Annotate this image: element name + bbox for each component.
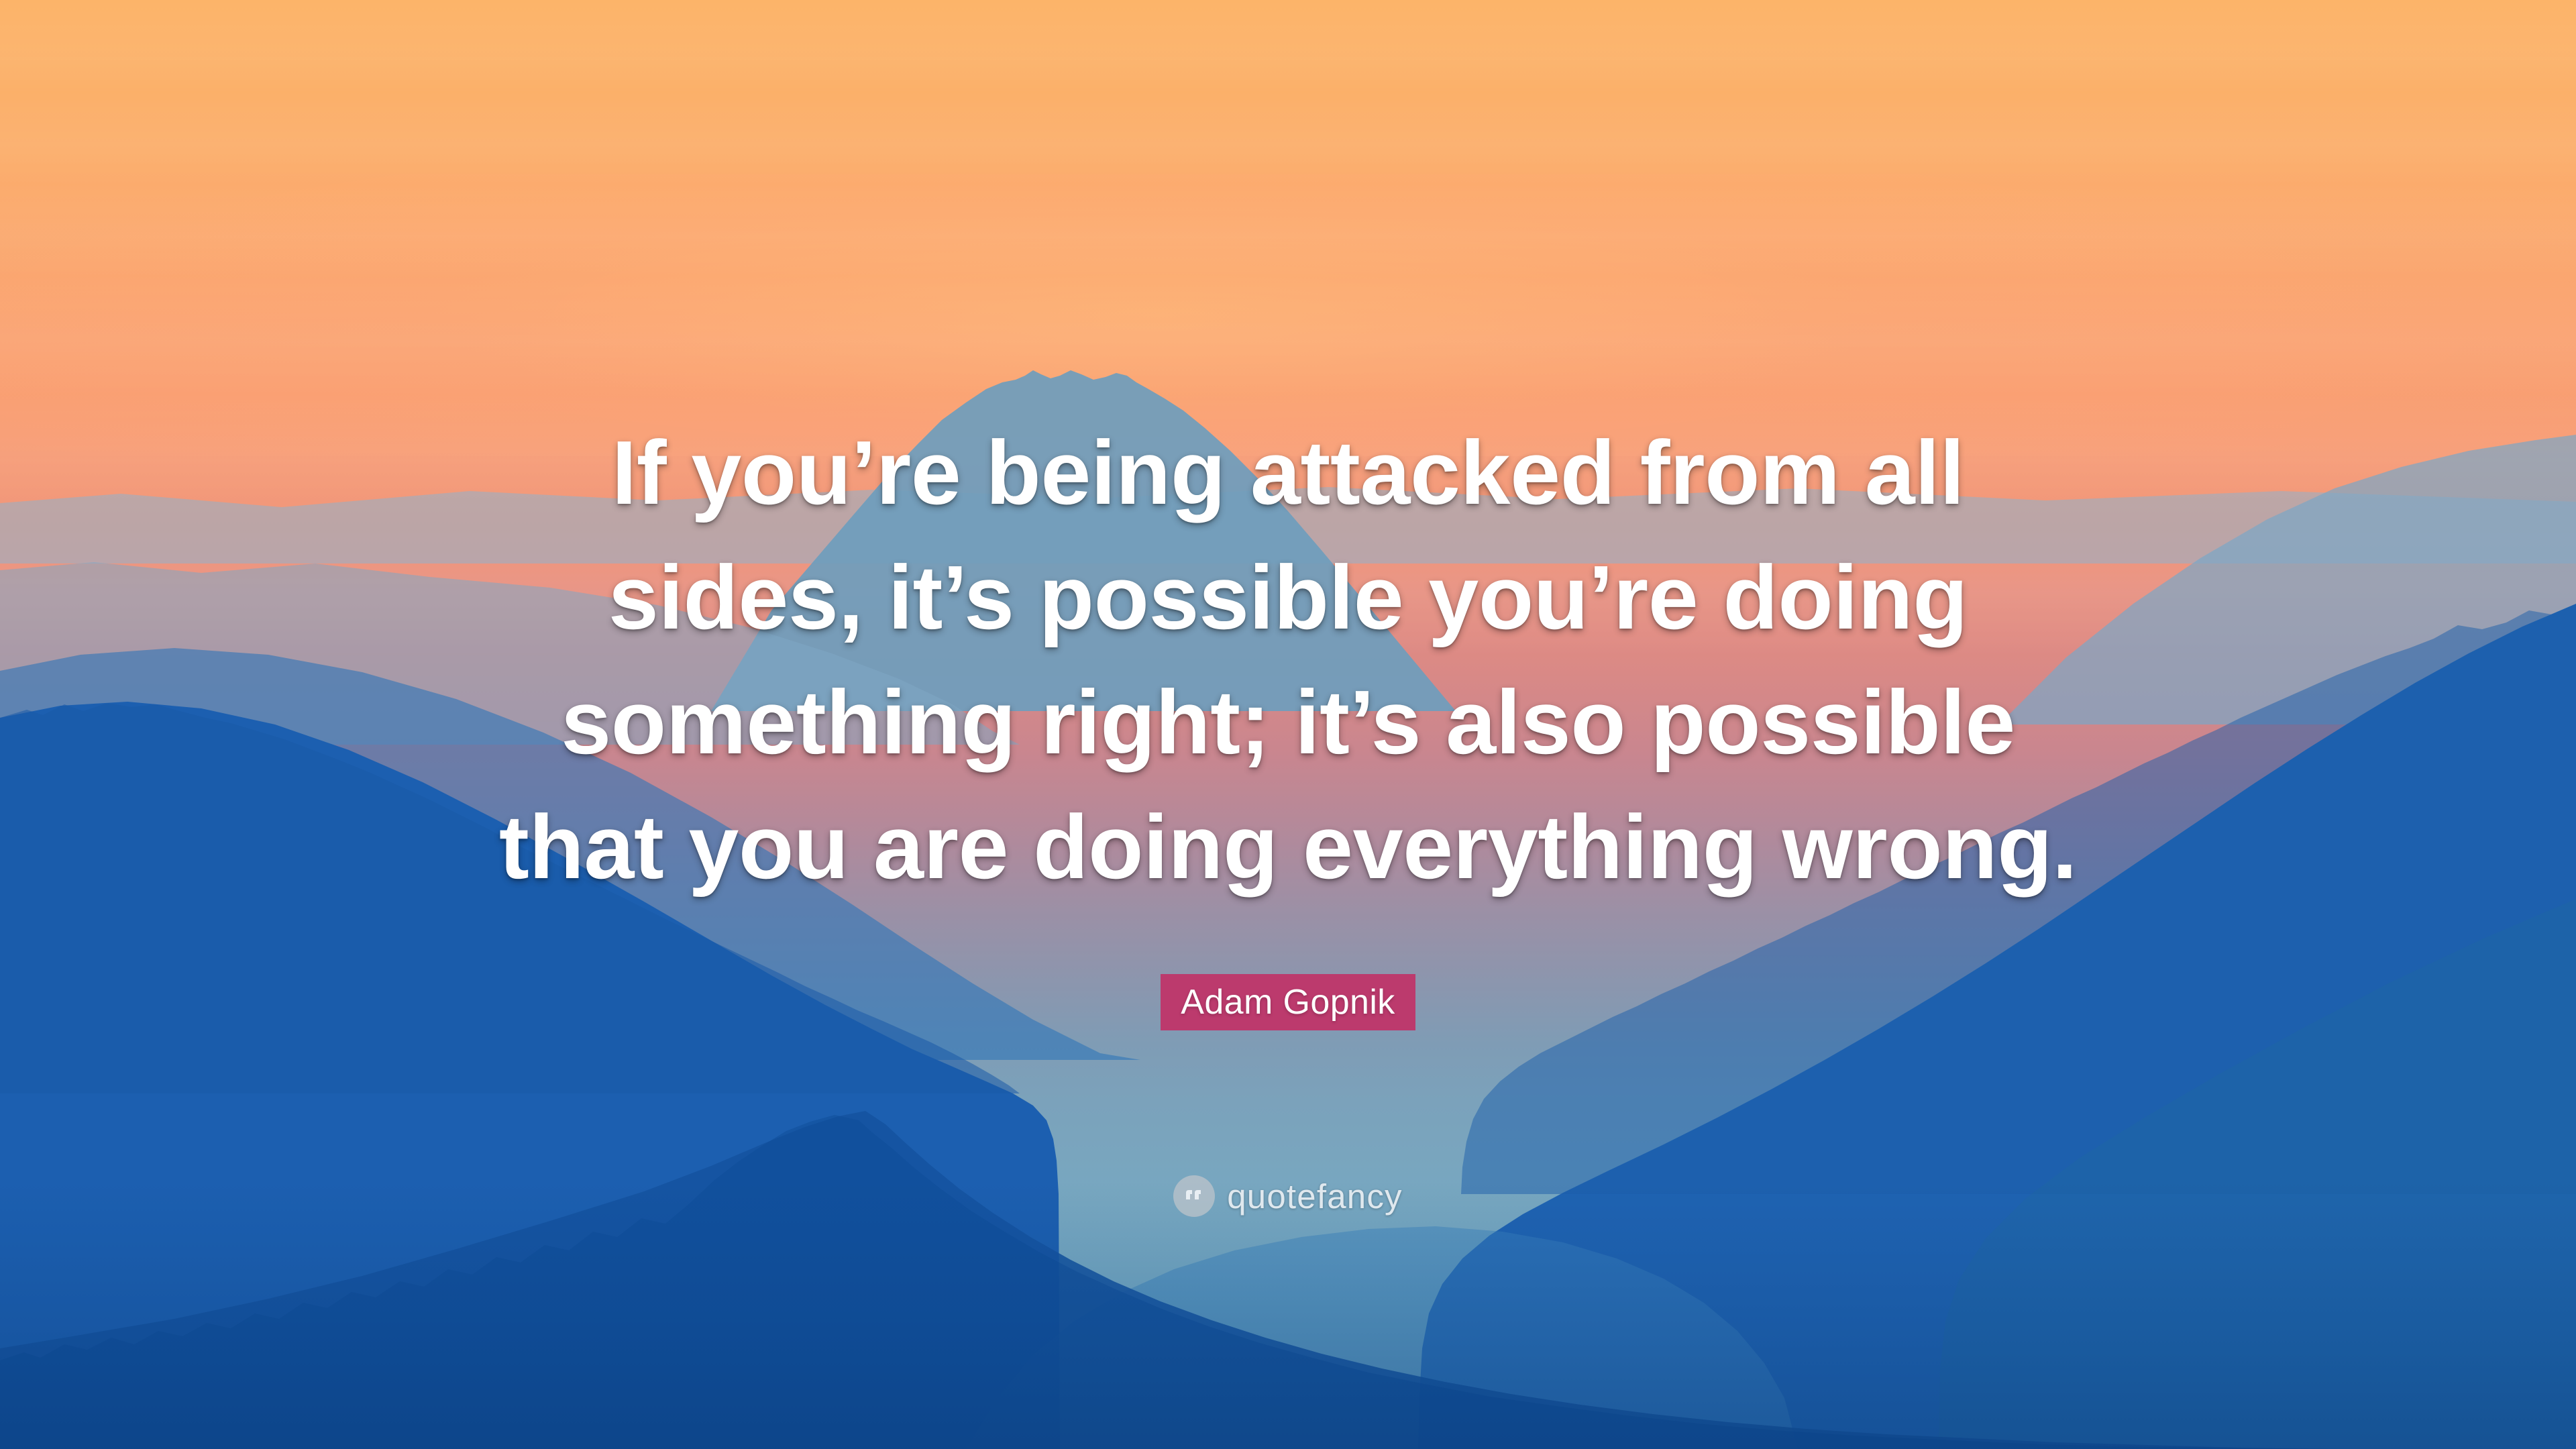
author-name-badge[interactable]: Adam Gopnik — [1161, 974, 1415, 1030]
quotefancy-watermark[interactable]: quotefancy — [0, 1175, 2576, 1217]
quote-wallpaper: If you’re being attacked from all sides,… — [0, 0, 2576, 1449]
quote-mark-icon — [1173, 1175, 1215, 1217]
quotefancy-brand-label: quotefancy — [1227, 1177, 1403, 1216]
quote-line: sides, it’s possible you’re doing — [215, 535, 2361, 660]
quote-line: If you’re being attacked from all — [215, 411, 2361, 535]
quote-text: If you’re being attacked from all sides,… — [0, 411, 2576, 910]
bottom-shadow-wash — [0, 1181, 2576, 1449]
quote-line: something right; it’s also possible — [215, 660, 2361, 785]
author-attribution: Adam Gopnik — [0, 974, 2576, 1030]
quote-line: that you are doing everything wrong. — [215, 785, 2361, 910]
